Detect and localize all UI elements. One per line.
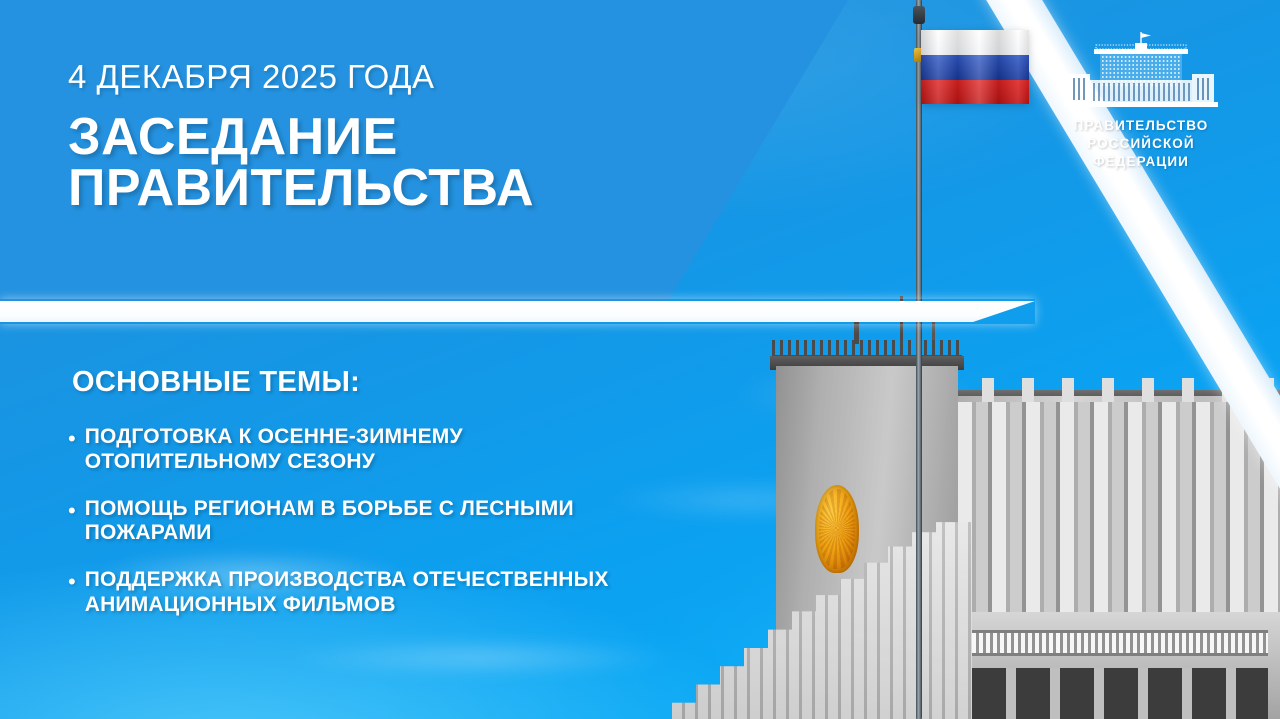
topic-text: ПОМОЩЬ РЕГИОНАМ В БОРЬБЕ С ЛЕСНЫМИ ПОЖАР… xyxy=(85,497,574,547)
list-item: • ПОМОЩЬ РЕГИОНАМ В БОРЬБЕ С ЛЕСНЫМИ ПОЖ… xyxy=(68,497,708,547)
topic-text: ПОДГОТОВКА К ОСЕННЕ-ЗИМНЕМУ ОТОПИТЕЛЬНОМ… xyxy=(85,425,463,475)
flagpole xyxy=(916,0,922,719)
emblem-layer xyxy=(672,330,1280,719)
government-meeting-poster: 4 ДЕКАБРЯ 2025 ГОДА ЗАСЕДАНИЕ ПРАВИТЕЛЬС… xyxy=(0,0,1280,719)
list-item: • ПОДДЕРЖКА ПРОИЗВОДСТВА ОТЕЧЕСТВЕННЫХ А… xyxy=(68,568,708,618)
topic-line-2: АНИМАЦИОННЫХ ФИЛЬМОВ xyxy=(85,593,396,616)
flag-wave-shading xyxy=(921,30,1029,104)
topic-text: ПОДДЕРЖКА ПРОИЗВОДСТВА ОТЕЧЕСТВЕННЫХ АНИ… xyxy=(85,568,609,618)
bullet-icon: • xyxy=(68,425,76,452)
topic-line-1: ПОДГОТОВКА К ОСЕННЕ-ЗИМНЕМУ xyxy=(85,425,463,448)
topic-line-2: ОТОПИТЕЛЬНОМУ СЕЗОНУ xyxy=(85,450,375,473)
topic-line-2: ПОЖАРАМИ xyxy=(85,521,212,544)
bullet-icon: • xyxy=(68,497,76,524)
white-separator-band xyxy=(0,301,1035,322)
event-date: 4 ДЕКАБРЯ 2025 ГОДА xyxy=(68,58,434,96)
russian-flag-icon xyxy=(921,30,1029,104)
topics-heading: ОСНОВНЫЕ ТЕМЫ: xyxy=(72,366,360,399)
golden-coat-of-arms-icon xyxy=(815,485,859,573)
list-item: • ПОДГОТОВКА К ОСЕННЕ-ЗИМНЕМУ ОТОПИТЕЛЬН… xyxy=(68,425,708,475)
page-title-line-1: ЗАСЕДАНИЕ xyxy=(68,112,534,163)
page-title: ЗАСЕДАНИЕ ПРАВИТЕЛЬСТВА xyxy=(68,112,534,214)
topic-line-1: ПОДДЕРЖКА ПРОИЗВОДСТВА ОТЕЧЕСТВЕННЫХ xyxy=(85,568,609,591)
logo-caption: ПРАВИТЕЛЬСТВО РОССИЙСКОЙ ФЕДЕРАЦИИ xyxy=(1038,117,1244,170)
topics-list: • ПОДГОТОВКА К ОСЕННЕ-ЗИМНЕМУ ОТОПИТЕЛЬН… xyxy=(68,425,708,640)
page-title-line-2: ПРАВИТЕЛЬСТВА xyxy=(68,163,534,214)
logo-caption-line-2: РОССИЙСКОЙ xyxy=(1038,135,1244,153)
government-house-icon xyxy=(1056,30,1226,110)
logo-caption-line-1: ПРАВИТЕЛЬСТВО xyxy=(1038,117,1244,135)
bullet-icon: • xyxy=(68,568,76,595)
logo-caption-line-3: ФЕДЕРАЦИИ xyxy=(1038,153,1244,171)
topic-line-1: ПОМОЩЬ РЕГИОНАМ В БОРЬБЕ С ЛЕСНЫМИ xyxy=(85,497,574,520)
government-logo: ПРАВИТЕЛЬСТВО РОССИЙСКОЙ ФЕДЕРАЦИИ xyxy=(1038,30,1244,195)
flagpole-cap xyxy=(913,6,925,24)
